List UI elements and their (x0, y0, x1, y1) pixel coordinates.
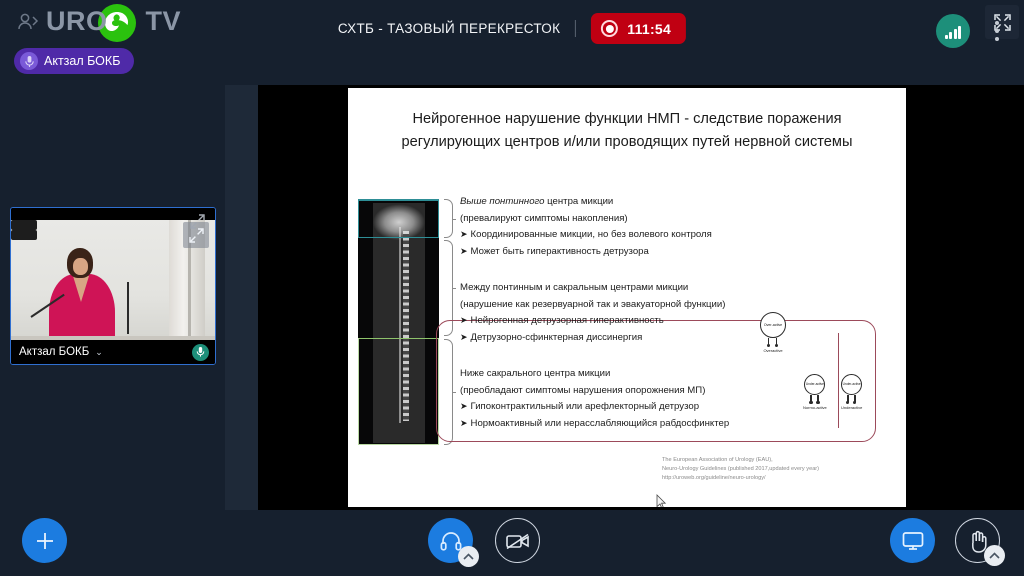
slide-text-block: Выше понтинного центра микции (превалиру… (460, 194, 712, 260)
reference-line: http://uroweb.org/guideline/neuro-urolog… (662, 474, 902, 483)
chevron-down-icon[interactable]: ⌄ (95, 347, 103, 358)
block-bullet: Нормоактивный или нерасслабляющийся рабд… (471, 418, 730, 429)
block-header-rest: Между понтинным и сакральным центрами ми… (460, 282, 688, 293)
diagram-connector-line (838, 333, 839, 428)
webcam-tile[interactable]: Актзал БОКБ ⌄ (10, 207, 216, 365)
microphone-icon (20, 52, 38, 70)
recording-indicator[interactable]: 111:54 (591, 13, 686, 44)
block-header-rest: центра микции (545, 196, 614, 207)
kebab-menu-icon[interactable] (988, 17, 1006, 45)
slide-title: Нейрогенное нарушение функции НМП - след… (362, 108, 892, 153)
session-title: СХТБ - ТАЗОВЫЙ ПЕРЕКРЕСТОК (338, 21, 560, 36)
recording-timer: 111:54 (627, 21, 671, 37)
raise-hand-button[interactable] (955, 518, 1000, 563)
brand-text-uro: URO (46, 6, 108, 37)
reference-line: Neuro-Urology Guidelines (published 2017… (662, 465, 902, 474)
bladder-dome-label: Under-active (804, 374, 825, 395)
screen-share-button[interactable] (890, 518, 935, 563)
brace-infra-sacral (444, 339, 453, 445)
bladder-caption: Normo-active (803, 405, 827, 410)
block-subheader: (превалируют симптомы накопления) (460, 211, 712, 228)
people-chevron-icon[interactable] (14, 8, 42, 36)
microphone-icon[interactable] (192, 344, 209, 361)
reference-line: The European Association of Urology (EAU… (662, 456, 902, 465)
block-subheader: (преобладают симптомы нарушения опорожне… (460, 383, 729, 400)
expand-arrows-icon[interactable] (183, 222, 209, 248)
brand-text-tv: TV (146, 6, 182, 37)
bladder-caption: Underactive (841, 405, 862, 410)
bladder-icon-underactive: Under-active Underactive (841, 374, 862, 410)
top-bar: URO TV Актзал БОКБ СХТБ - ТАЗОВЫЙ ПЕРЕКР… (0, 0, 1024, 62)
block-bullet: Координированные микции, но без волевого… (471, 229, 712, 240)
block-bullet: Детрузорно-сфинктерная диссинергия (471, 332, 643, 343)
bladder-icon-overactive: Over-active Overactive (760, 312, 786, 353)
brace-pontine-sacral (444, 240, 453, 336)
slide-text-block: Между понтинным и сакральным центрами ми… (460, 280, 725, 346)
bladder-caption: Overactive (763, 348, 782, 353)
block-subheader: (нарушение как резервуарной так и эвакуа… (460, 297, 725, 314)
add-button[interactable] (22, 518, 67, 563)
audio-options-chevron-icon[interactable] (458, 546, 479, 567)
mouse-cursor-icon (656, 494, 667, 507)
block-header-rest: Ниже сакрального центра микции (460, 368, 610, 379)
shared-slide[interactable]: Нейрогенное нарушение функции НМП - след… (348, 88, 906, 507)
session-header: СХТБ - ТАЗОВЫЙ ПЕРЕКРЕСТОК 111:54 (338, 13, 686, 44)
slide-reference: The European Association of Urology (EAU… (662, 456, 902, 484)
audio-headset-button[interactable] (428, 518, 473, 563)
bladder-dome-label: Under-active (841, 374, 862, 395)
camera-off-button[interactable] (495, 518, 540, 563)
bladder-icon-normoactive: Under-active Normo-active (803, 374, 827, 410)
block-header-italic: Выше понтинного (460, 196, 545, 207)
webcam-name-bar[interactable]: Актзал БОКБ ⌄ (11, 340, 216, 364)
block-bullet: Гипоконтрактильный или арефлекторный дет… (471, 401, 700, 412)
bladder-dome-label: Over-active (760, 312, 786, 338)
block-bullet: Нейрогенная детрузорная гиперактивность (471, 315, 664, 326)
brace-supra-pontine (444, 199, 453, 238)
signal-bars-icon[interactable] (936, 14, 970, 48)
sacral-level-marker (358, 338, 439, 339)
block-bullet: Может быть гиперактивность детрузора (471, 246, 649, 257)
local-mic-status-chip[interactable]: Актзал БОКБ (14, 48, 134, 74)
slide-text-block: Ниже сакрального центра микции (преоблад… (460, 366, 729, 432)
bottom-control-bar (0, 510, 1024, 576)
hand-options-chevron-icon[interactable] (984, 545, 1005, 566)
local-mic-label: Актзал БОКБ (44, 54, 120, 68)
webcam-participant-name: Актзал БОКБ (19, 346, 89, 358)
brand-logo: URO TV (14, 6, 181, 37)
record-dot-icon (601, 20, 618, 37)
header-divider (575, 20, 576, 37)
sagittal-mri-image (358, 200, 439, 445)
